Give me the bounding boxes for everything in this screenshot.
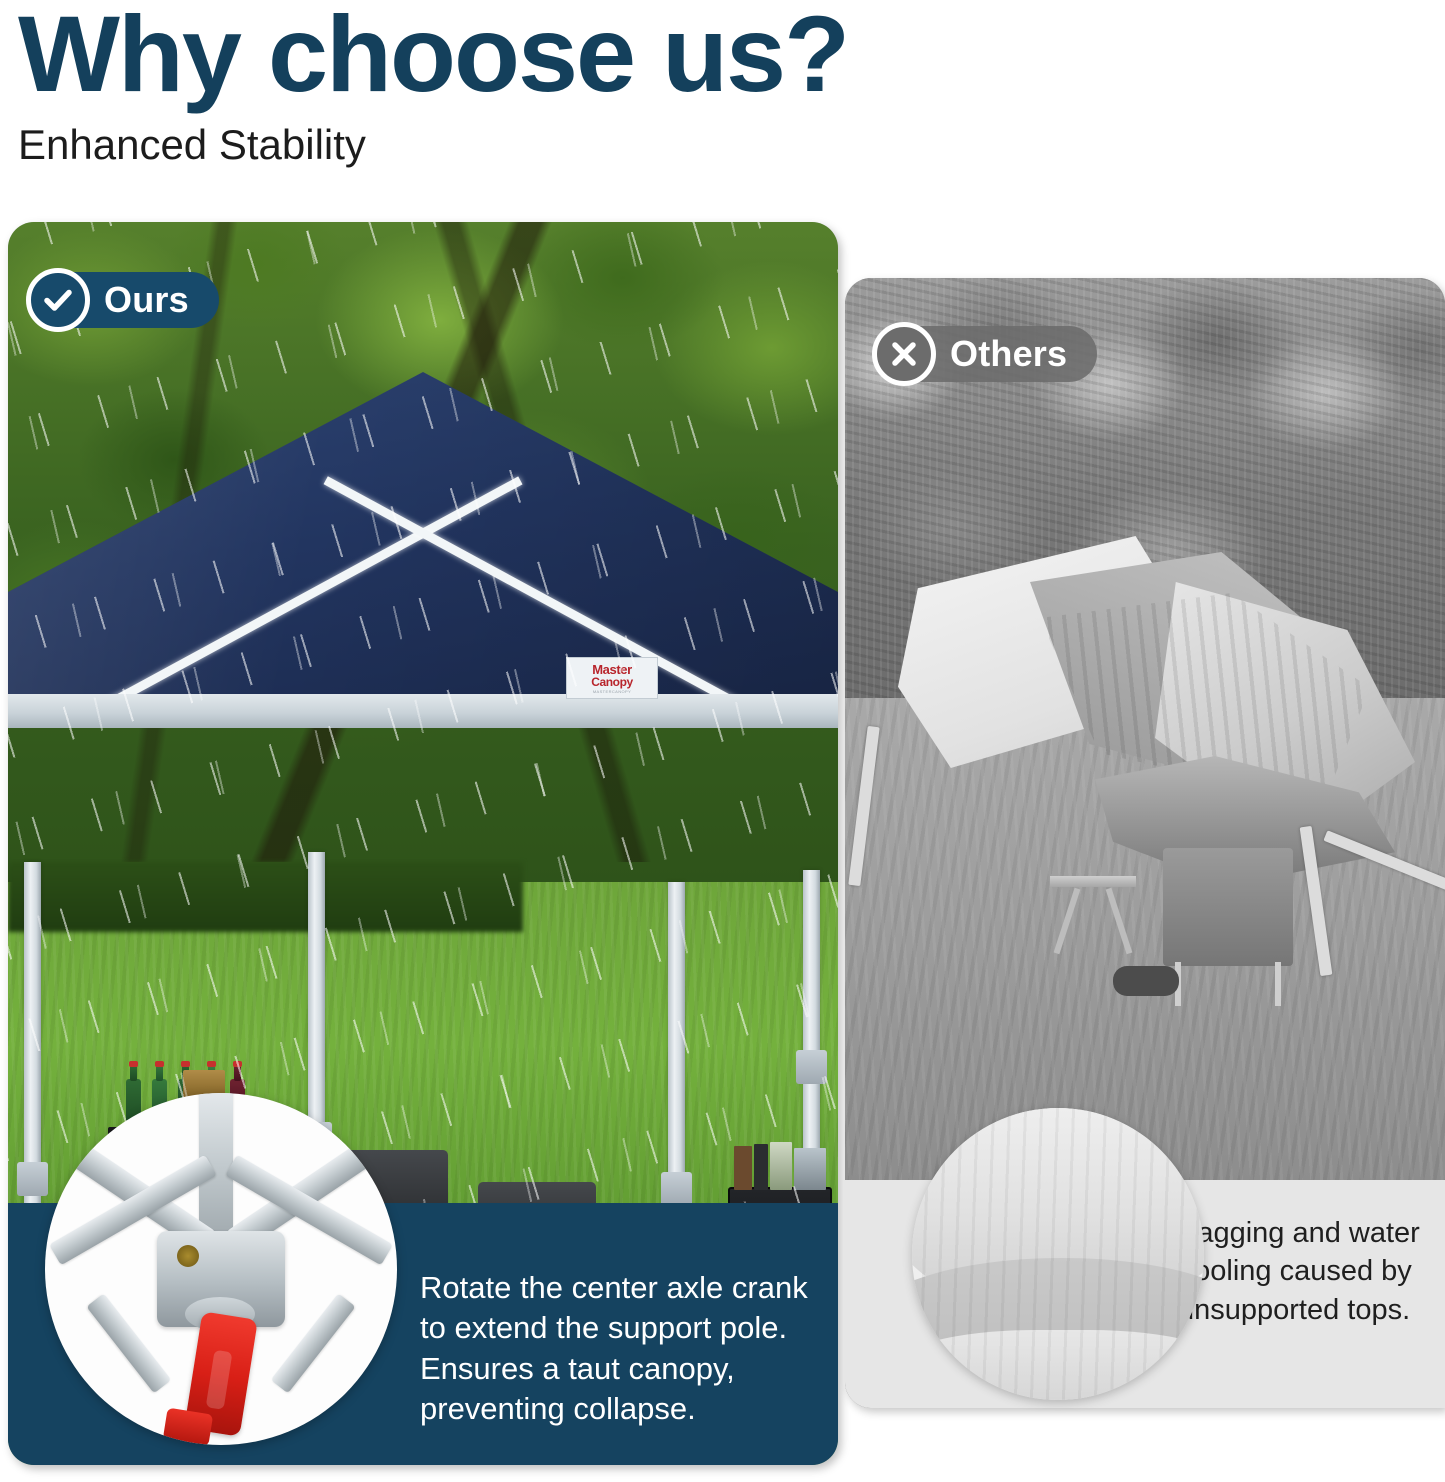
badge-others: Others xyxy=(872,322,1097,386)
ground-bag xyxy=(1113,966,1179,996)
ours-caption: Rotate the center axle crank to extend t… xyxy=(420,1268,820,1429)
folding-chair xyxy=(1163,848,1293,966)
brand-logo: Master Canopy MASTERCANOPY xyxy=(566,657,658,699)
crank-slot xyxy=(206,1350,233,1410)
crank-knob xyxy=(163,1408,213,1445)
book xyxy=(770,1142,792,1190)
leg-clip xyxy=(661,1172,692,1206)
canopy-valance xyxy=(8,694,838,728)
brand-line-2: Canopy xyxy=(591,676,633,688)
x-icon xyxy=(872,322,936,386)
brand-line-1: Master xyxy=(592,663,632,676)
collapsed-canopy xyxy=(880,528,1410,948)
page-subtitle: Enhanced Stability xyxy=(18,124,848,166)
hedge-row xyxy=(8,862,523,932)
canopy-assembly xyxy=(8,372,838,872)
hub-screw xyxy=(177,1245,199,1267)
book-stack xyxy=(734,1142,828,1190)
sagging-top-inset xyxy=(912,1108,1204,1400)
table-top xyxy=(1050,876,1136,887)
others-caption: Sagging and water pooling caused by unsu… xyxy=(1178,1214,1428,1329)
fabric-creases xyxy=(912,1108,1204,1400)
leg-clip xyxy=(796,1050,827,1084)
book xyxy=(754,1144,768,1190)
chair-leg xyxy=(1275,962,1281,1006)
page-title: Why choose us? xyxy=(18,0,848,108)
table-leg xyxy=(1054,888,1081,955)
small-folding-table xyxy=(1050,876,1136,954)
table-leg xyxy=(1106,888,1133,955)
leg-clip xyxy=(17,1162,48,1196)
book xyxy=(794,1148,826,1190)
brand-line-3: MASTERCANOPY xyxy=(593,690,631,694)
check-icon xyxy=(26,268,90,332)
badge-ours: Ours xyxy=(26,268,219,332)
book xyxy=(734,1146,752,1190)
header: Why choose us? Enhanced Stability xyxy=(18,0,848,166)
center-axle-crank-inset xyxy=(45,1093,397,1445)
